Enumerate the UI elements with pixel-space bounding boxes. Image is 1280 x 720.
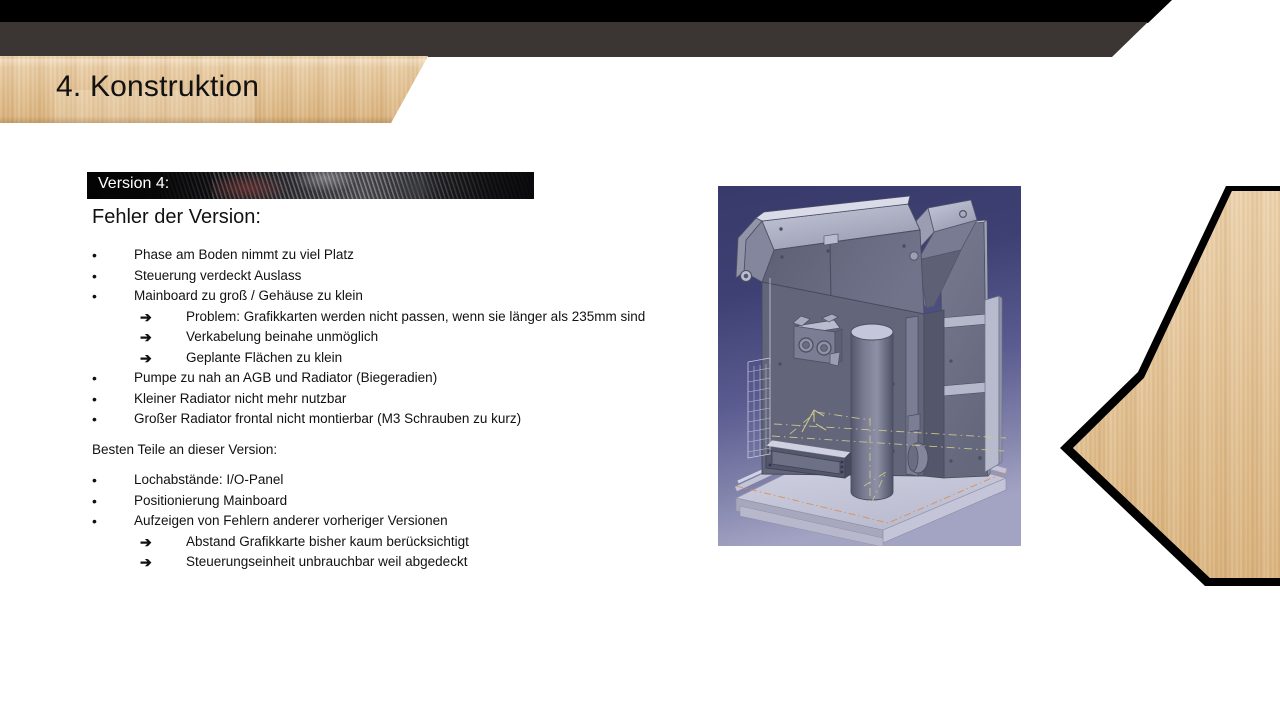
bullet-text: Abstand Grafikkarte bisher kaum berücksi… (186, 532, 712, 553)
bullet-arrow-icon: ➔ (140, 348, 186, 369)
bullet-dot-icon: • (92, 245, 134, 266)
cad-render-image (718, 186, 1021, 546)
bullet-item: •Mainboard zu groß / Gehäuse zu klein (92, 286, 712, 307)
bullet-text: Kleiner Radiator nicht mehr nutzbar (134, 389, 712, 410)
top-grey-bar (0, 22, 1280, 57)
bullet-item: •Lochabstände: I/O-Panel (92, 470, 712, 491)
slide-title: 4. Konstruktion (56, 70, 259, 104)
bullet-text: Problem: Grafikkarten werden nicht passe… (186, 307, 712, 328)
bullet-text: Großer Radiator frontal nicht montierbar… (134, 409, 700, 430)
bullet-item: ➔Problem: Grafikkarten werden nicht pass… (92, 307, 712, 328)
bullet-dot-icon: • (92, 491, 134, 512)
bullet-item: •Phase am Boden nimmt zu viel Platz (92, 245, 712, 266)
bullet-item: •Positionierung Mainboard (92, 491, 712, 512)
bullet-dot-icon: • (92, 286, 134, 307)
top-black-bar (0, 0, 1280, 23)
bullet-item: •Aufzeigen von Fehlern anderer vorherige… (92, 511, 712, 532)
bullet-item: •Pumpe zu nah an AGB und Radiator (Biege… (92, 368, 712, 389)
bullet-dot-icon: • (92, 368, 134, 389)
bullet-dot-icon: • (92, 266, 134, 287)
bullet-item: •Kleiner Radiator nicht mehr nutzbar (92, 389, 712, 410)
bullet-list-container: •Phase am Boden nimmt zu viel Platz•Steu… (92, 245, 712, 573)
bullet-item: ➔Abstand Grafikkarte bisher kaum berücks… (92, 532, 712, 553)
bullet-arrow-icon: ➔ (140, 327, 186, 348)
version-section-bar: Version 4: (87, 172, 534, 199)
errors-heading: Fehler der Version: (92, 206, 261, 229)
bullet-text: Phase am Boden nimmt zu viel Platz (134, 245, 712, 266)
best-parts-heading: Besten Teile an dieser Version: (92, 430, 712, 471)
version-bar-right-shade (424, 172, 534, 199)
bullet-text: Positionierung Mainboard (134, 491, 712, 512)
bullet-item: •Großer Radiator frontal nicht montierba… (92, 409, 712, 430)
slide-root: 4. Konstruktion Version 4: Fehler der Ve… (0, 0, 1280, 720)
wood-highlight (0, 59, 430, 68)
bullet-arrow-icon: ➔ (140, 552, 186, 573)
wood-chevron-decoration (1060, 186, 1280, 586)
bullet-text: Steuerungseinheit unbrauchbar weil abged… (186, 552, 712, 573)
bullet-arrow-icon: ➔ (140, 307, 186, 328)
bullet-item: ➔Steuerungseinheit unbrauchbar weil abge… (92, 552, 712, 573)
bullet-dot-icon: • (92, 389, 134, 410)
bullet-item: •Steuerung verdeckt Auslass (92, 266, 712, 287)
chevron-wood-texture (1060, 186, 1280, 586)
bullet-text: Lochabstände: I/O-Panel (134, 470, 712, 491)
bullet-text: Aufzeigen von Fehlern anderer vorheriger… (134, 511, 712, 532)
bullet-text: Mainboard zu groß / Gehäuse zu klein (134, 286, 712, 307)
bullet-dot-icon: • (92, 409, 134, 430)
bullet-item: ➔Verkabelung beinahe unmöglich (92, 327, 712, 348)
bullet-arrow-icon: ➔ (140, 532, 186, 553)
wood-shadow (0, 116, 430, 123)
bullet-dot-icon: • (92, 511, 134, 532)
bullet-text: Pumpe zu nah an AGB und Radiator (Bieger… (134, 368, 712, 389)
bullet-text: Geplante Flächen zu klein (186, 348, 712, 369)
bullet-item: ➔Geplante Flächen zu klein (92, 348, 712, 369)
bullet-text: Verkabelung beinahe unmöglich (186, 327, 712, 348)
chevron-wood-fill (1060, 186, 1280, 586)
version-label: Version 4: (98, 175, 169, 193)
bullet-dot-icon: • (92, 470, 134, 491)
bullet-text: Steuerung verdeckt Auslass (134, 266, 712, 287)
